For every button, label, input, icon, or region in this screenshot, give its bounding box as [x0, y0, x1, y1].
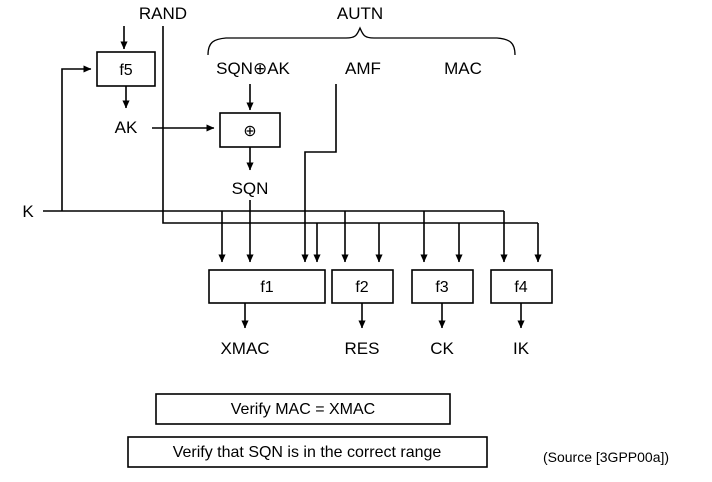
label-autn-group: AUTN: [337, 4, 383, 23]
label-xmac: XMAC: [220, 339, 269, 358]
diagram-canvas: RAND AUTN SQN⊕AK AMF MAC f5 AK ⊕ SQN K: [0, 0, 712, 482]
label-ck: CK: [430, 339, 454, 358]
label-ik: IK: [513, 339, 530, 358]
wire-k-to-f5: [62, 69, 91, 211]
xor-symbol: ⊕: [243, 123, 256, 140]
label-ak: AK: [115, 118, 138, 137]
function-label-f5: f5: [119, 62, 132, 79]
label-mac: MAC: [444, 59, 482, 78]
label-k: K: [22, 202, 34, 221]
label-sqn: SQN: [232, 179, 269, 198]
label-res: RES: [345, 339, 380, 358]
source-note: (Source [3GPP00a]): [543, 449, 669, 465]
autn-brace: [208, 28, 515, 55]
function-label-f3: f3: [435, 279, 448, 296]
wire-amf-to-f1: [305, 84, 336, 262]
function-label-f2: f2: [355, 279, 368, 296]
function-label-f1: f1: [260, 279, 273, 296]
label-sqn-xor-ak: SQN⊕AK: [216, 59, 290, 78]
verify-mac-label: Verify MAC = XMAC: [231, 401, 375, 418]
verify-sqn-label: Verify that SQN is in the correct range: [173, 444, 442, 461]
label-rand: RAND: [139, 4, 187, 23]
function-label-f4: f4: [514, 279, 527, 296]
aka-diagram: RAND AUTN SQN⊕AK AMF MAC f5 AK ⊕ SQN K: [0, 0, 712, 482]
label-amf: AMF: [345, 59, 381, 78]
